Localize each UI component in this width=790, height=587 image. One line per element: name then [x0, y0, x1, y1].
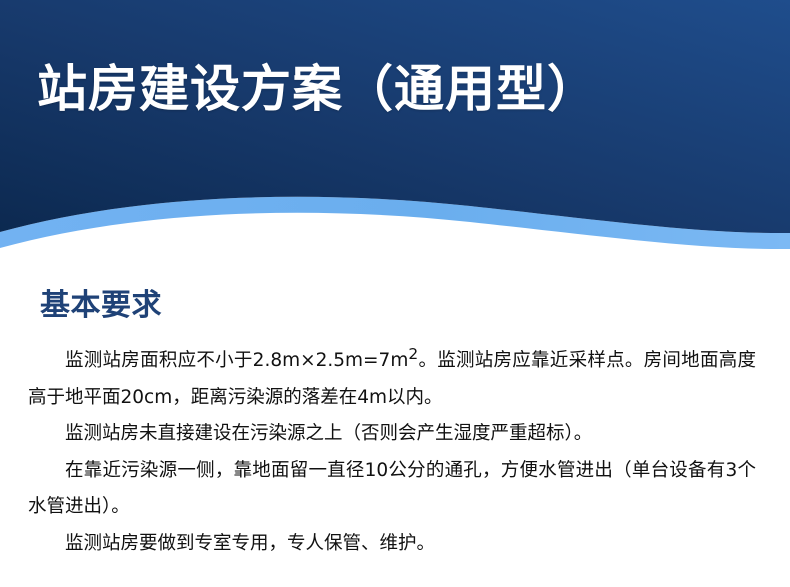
section-heading-basic-requirements: 基本要求	[40, 280, 162, 324]
slide-body: 基本要求 监测站房面积应不小于2.8m×2.5m=7m2。监测站房应靠近采样点。…	[0, 252, 790, 587]
banner-wave-graphic	[0, 0, 790, 252]
page-title: 站房建设方案（通用型）	[37, 58, 737, 121]
body-paragraph-3: 在靠近污染源一侧，靠地面留一直径10公分的通孔，方便水管进出（单台设备有3个水管…	[28, 453, 756, 526]
square-meter-superscript: 2	[408, 345, 418, 363]
presentation-slide: 站房建设方案（通用型） 基本要求 监测站房面积应不小于2.8m×2.5m=7m2…	[0, 0, 790, 587]
body-paragraph-list: 监测站房面积应不小于2.8m×2.5m=7m2。监测站房应靠近采样点。房间地面高…	[28, 336, 756, 562]
body-paragraph-1: 监测站房面积应不小于2.8m×2.5m=7m2。监测站房应靠近采样点。房间地面高…	[28, 336, 756, 416]
body-paragraph-4: 监测站房要做到专室专用，专人保管、维护。	[28, 526, 756, 563]
body-paragraph-2: 监测站房未直接建设在污染源之上（否则会产生湿度严重超标）。	[28, 416, 756, 453]
paragraph-1-text-before-superscript: 监测站房面积应不小于2.8m×2.5m=7m	[65, 350, 408, 371]
slide-header-banner: 站房建设方案（通用型）	[0, 0, 790, 252]
